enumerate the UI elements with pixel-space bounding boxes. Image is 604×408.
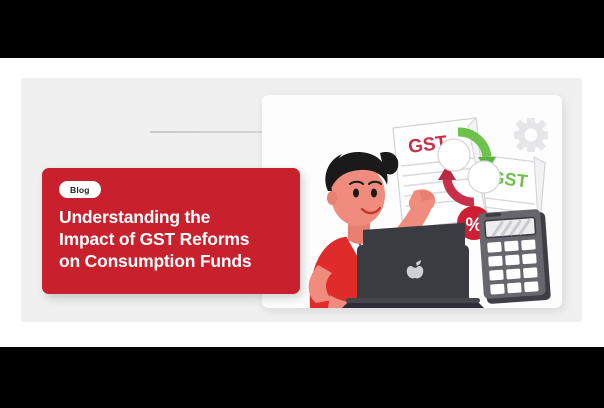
title-line-3: on Consumption Funds xyxy=(59,250,289,272)
divider-line xyxy=(150,131,275,133)
calculator-illustration xyxy=(478,209,551,304)
illustration-card: GST GST xyxy=(262,95,562,308)
title-line-1: Understanding the xyxy=(59,206,289,228)
title-line-2: Impact of GST Reforms xyxy=(59,228,289,250)
category-badge[interactable]: Blog xyxy=(59,181,101,198)
gear-icon xyxy=(514,118,548,152)
blog-promo-card[interactable]: Blog Understanding the Impact of GST Ref… xyxy=(42,168,300,294)
laptop-illustration xyxy=(342,223,484,308)
page-title: Understanding the Impact of GST Reforms … xyxy=(59,206,289,272)
